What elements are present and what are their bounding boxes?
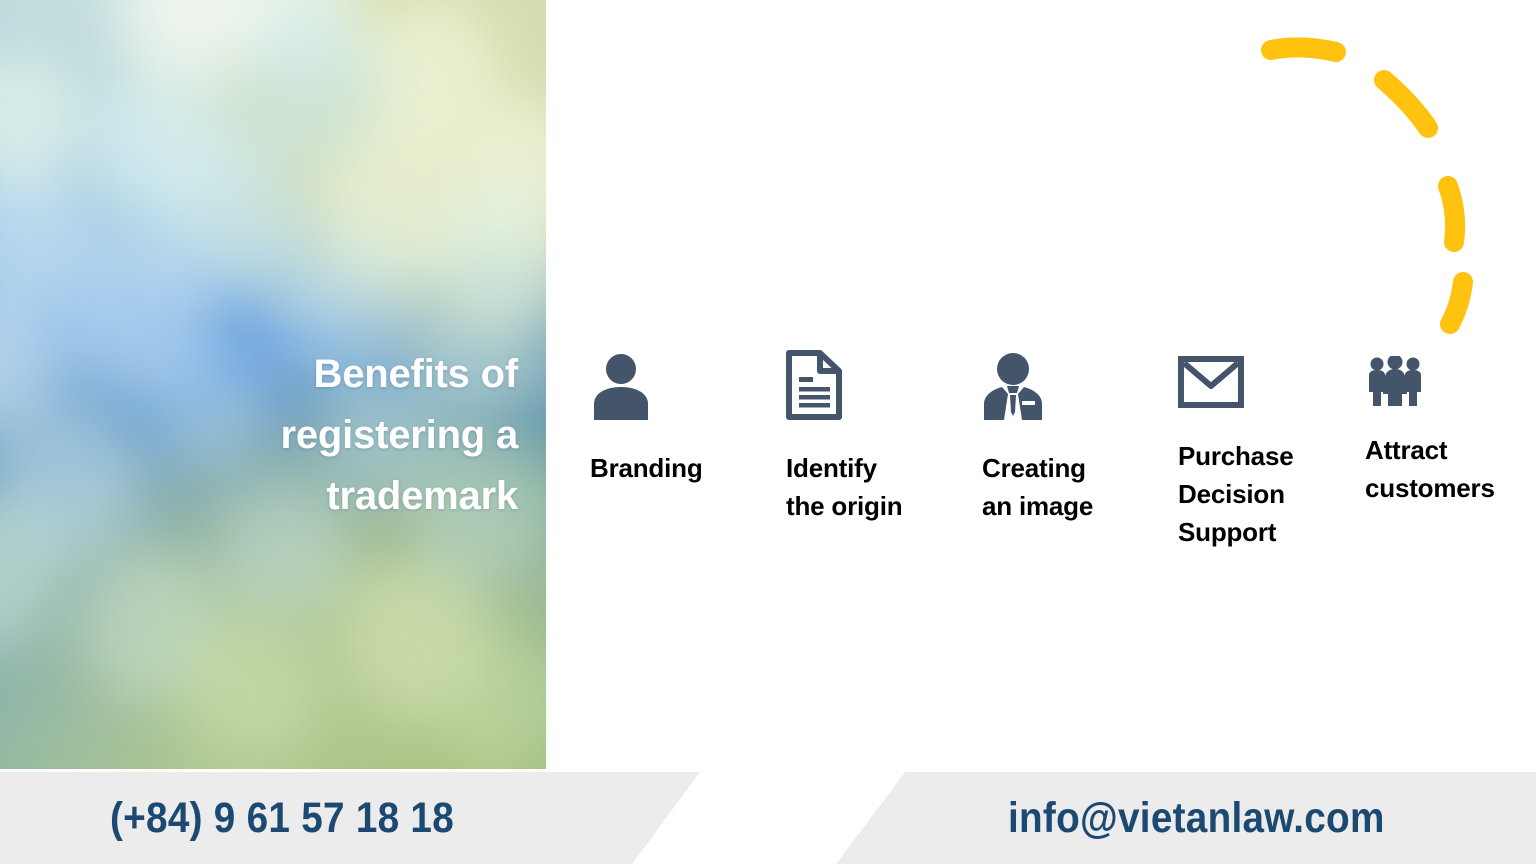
footer-phone[interactable]: (+84) 9 61 57 18 18: [110, 772, 454, 864]
feature-item-identify-origin[interactable]: Identify the origin: [786, 350, 902, 526]
feature-label: Attract customers: [1365, 432, 1495, 508]
feature-item-purchase-decision-support[interactable]: Purchase Decision Support: [1178, 356, 1293, 552]
people-group-icon: [1365, 356, 1425, 408]
footer: (+84) 9 61 57 18 18 info@vietanlaw.com: [0, 769, 1536, 864]
feature-item-attract-customers[interactable]: Attract customers: [1365, 356, 1495, 508]
feature-item-creating-image[interactable]: Creating an image: [982, 352, 1093, 526]
person-icon: [590, 352, 652, 420]
footer-email[interactable]: info@vietanlaw.com: [1008, 772, 1385, 864]
document-icon: [786, 350, 842, 420]
slide-canvas: Benefits of registering a trademark Bran…: [0, 0, 1536, 864]
feature-label: Purchase Decision Support: [1178, 438, 1293, 552]
feature-label: Branding: [590, 450, 703, 488]
feature-label: Identify the origin: [786, 450, 902, 526]
feature-label: Creating an image: [982, 450, 1093, 526]
feature-row: Branding Identify the origin C: [0, 0, 1536, 769]
businessman-icon: [982, 352, 1044, 420]
feature-item-branding[interactable]: Branding: [590, 352, 703, 488]
envelope-icon: [1178, 356, 1244, 408]
